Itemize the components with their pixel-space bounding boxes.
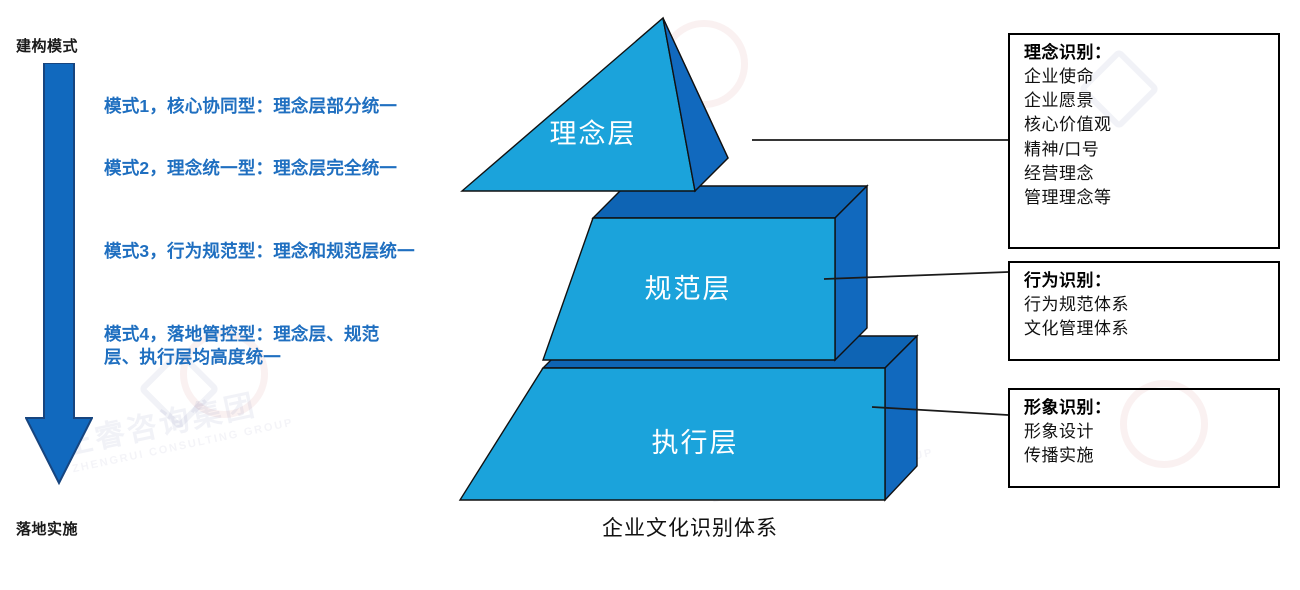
info-box-behavior: 行为识别： 行为规范体系 文化管理体系 [1008, 261, 1280, 361]
panel-bottom-label: 落地实施 [16, 518, 78, 539]
info-box-item: 精神/口号 [1024, 138, 1268, 162]
info-box-title: 理念识别： [1024, 41, 1268, 65]
info-box-item: 企业愿景 [1024, 89, 1268, 113]
mode-item-1: 模式1，核心协同型：理念层部分统一 [104, 95, 397, 118]
panel-top-label: 建构模式 [16, 35, 78, 56]
mode-item-3: 模式3，行为规范型：理念和规范层统一 [104, 240, 415, 263]
tier-label-norms: 规范层 [645, 274, 732, 304]
mode-item-2: 模式2，理念统一型：理念层完全统一 [104, 157, 397, 180]
info-box-title: 形象识别： [1024, 396, 1268, 420]
pyramid-tier-ideology: 理念层 [462, 18, 728, 191]
mode-item-4: 模式4，落地管控型：理念层、规范 层、执行层均高度统一 [104, 323, 404, 369]
info-box-image: 形象识别： 形象设计 传播实施 [1008, 388, 1280, 488]
info-box-item: 经营理念 [1024, 162, 1268, 186]
tier-label-ideology: 理念层 [550, 119, 637, 149]
pyramid-tier-norms: 规范层 [543, 186, 867, 360]
info-box-item: 文化管理体系 [1024, 317, 1268, 341]
pyramid-diagram: 执行层 规范层 理念层 [430, 8, 950, 518]
diagram-canvas: 正睿咨询集团 正睿咨询集团 ZHENGRUI CONSULTING GROUP … [0, 0, 1300, 590]
info-box-item: 管理理念等 [1024, 186, 1268, 210]
down-arrow-icon [25, 63, 93, 488]
tier-label-execution: 执行层 [652, 428, 739, 458]
info-box-item: 形象设计 [1024, 420, 1268, 444]
info-box-ideology: 理念识别： 企业使命 企业愿景 核心价值观 精神/口号 经营理念 管理理念等 [1008, 33, 1280, 249]
pyramid-caption: 企业文化识别体系 [430, 512, 950, 542]
info-box-item: 企业使命 [1024, 65, 1268, 89]
info-box-item: 行为规范体系 [1024, 293, 1268, 317]
info-box-item: 核心价值观 [1024, 113, 1268, 137]
info-box-title: 行为识别： [1024, 269, 1268, 293]
info-box-item: 传播实施 [1024, 444, 1268, 468]
